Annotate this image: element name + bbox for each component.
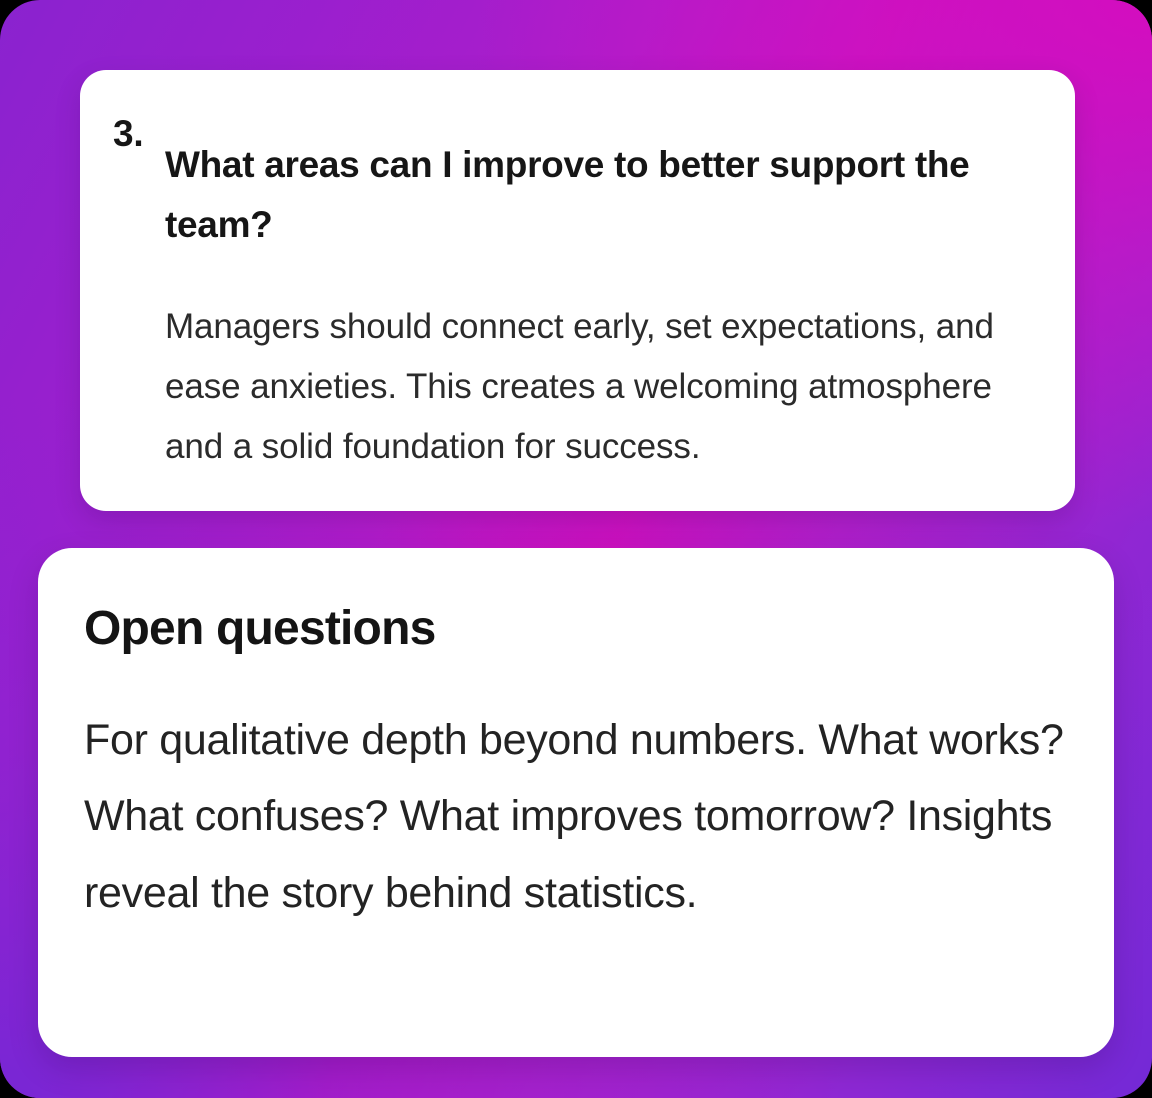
slide-canvas: 3. What areas can I improve to better su… [0,0,1152,1098]
qa-card: 3. What areas can I improve to better su… [80,70,1075,511]
open-questions-title: Open questions [84,600,1068,658]
qa-list-number: 3. [113,104,165,164]
card-stack: 3. What areas can I improve to better su… [0,0,1152,1098]
qa-question-row: 3. What areas can I improve to better su… [113,104,1045,285]
open-questions-card: Open questions For qualitative depth bey… [38,548,1114,1057]
open-questions-body: For qualitative depth beyond numbers. Wh… [84,702,1068,932]
qa-question-text: What areas can I improve to better suppo… [165,135,1045,255]
qa-answer-text: Managers should connect early, set expec… [165,297,1045,477]
